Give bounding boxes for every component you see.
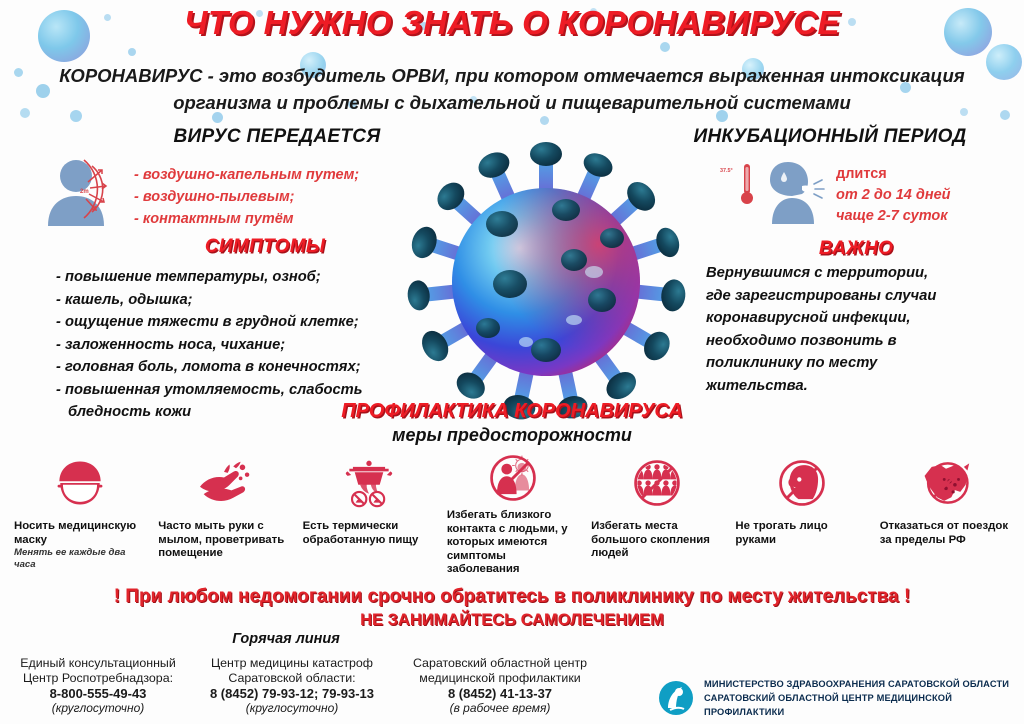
- list-item: - ощущение тяжести в грудной клетке;: [56, 311, 416, 334]
- prevention-label: Носить медицинскую маску: [8, 520, 152, 547]
- intro-paragraph: КОРОНАВИРУС - это возбудитель ОРВИ, при …: [40, 62, 984, 116]
- symptoms-heading: СИМПТОМЫ: [120, 236, 410, 258]
- decorative-dot: [20, 108, 30, 118]
- incubation-line: длится: [836, 164, 1024, 185]
- transmission-list: - воздушно-капельным путем; - воздушно-п…: [134, 164, 394, 230]
- contact-phone[interactable]: 8 (8452) 79-93-12; 79-93-13: [192, 686, 392, 701]
- contact-block: Центр медицины катастроф Саратовской обл…: [192, 656, 392, 716]
- ministry-footer: МИНИСТЕРСТВО ЗДРАВООХРАНЕНИЯ САРАТОВСКОЙ…: [658, 678, 1024, 718]
- prevention-label: Есть термически обработанную пищу: [297, 520, 441, 547]
- prevention-label: Избегать места большого скопления людей: [585, 520, 729, 561]
- person-distance-icon: 2m: [36, 152, 144, 226]
- prevention-subheading: меры предосторожности: [0, 425, 1024, 446]
- wash-hands-icon: [152, 452, 296, 514]
- coronavirus-illustration: [398, 132, 694, 424]
- decorative-dot: [1000, 110, 1010, 120]
- ministry-line1: МИНИСТЕРСТВО ЗДРАВООХРАНЕНИЯ САРАТОВСКОЙ…: [704, 677, 1024, 691]
- ministry-health-logo: [658, 680, 694, 716]
- decorative-dot: [540, 116, 549, 125]
- decorative-dot: [128, 48, 136, 56]
- ministry-line2: САРАТОВСКИЙ ОБЛАСТНОЙ ЦЕНТР МЕДИЦИНСКОЙ …: [704, 691, 1024, 719]
- prevention-item: Избегать места большого скопления людей: [585, 452, 729, 577]
- incubation-duration: длится от 2 до 14 дней чаще 2-7 суток: [836, 164, 1024, 227]
- decorative-virus-icon: [986, 44, 1022, 80]
- important-line: Вернувшимся с территории,: [706, 262, 1010, 285]
- contact-name-line: Саратовский областной центр: [392, 656, 608, 671]
- contact-block: Саратовский областной центр медицинской …: [392, 656, 608, 716]
- contact-name-line: Центр медицины катастроф: [192, 656, 392, 671]
- important-line: коронавирусной инфекции,: [706, 307, 1010, 330]
- contact-hours: (круглосуточно): [192, 701, 392, 716]
- contact-name-line: Единый консультационный: [0, 656, 196, 671]
- list-item: - контактным путём: [134, 208, 394, 230]
- list-item: - кашель, одышка;: [56, 289, 416, 312]
- contact-phone[interactable]: 8 (8452) 41-13-37: [392, 686, 608, 701]
- warning-banner-line2: НЕ ЗАНИМАЙТЕСЬ САМОЛЕЧЕНИЕМ: [0, 611, 1024, 630]
- no-crowds-icon: [585, 452, 729, 514]
- page-title: ЧТО НУЖНО ЗНАТЬ О КОРОНАВИРУСЕ: [0, 4, 1024, 42]
- important-line: необходимо позвонить в: [706, 330, 1010, 353]
- distance-label: 2m: [80, 189, 89, 195]
- incubation-heading: ИНКУБАЦИОННЫЙ ПЕРИОД: [660, 126, 1000, 148]
- prevention-item: Есть термически обработанную пищу: [297, 452, 441, 577]
- important-line: жительства.: [706, 375, 1010, 398]
- prevention-item: Избегать близкого контакта с людьми, у к…: [441, 452, 585, 577]
- important-line: поликлинику по месту: [706, 352, 1010, 375]
- list-item: - заложенность носа, чихание;: [56, 334, 416, 357]
- face-mask-icon: [8, 452, 152, 514]
- dont-touch-face-icon: [729, 452, 873, 514]
- incubation-line: чаще 2-7 суток: [836, 206, 1024, 227]
- important-heading: ВАЖНО: [706, 238, 1006, 260]
- prevention-heading: ПРОФИЛАКТИКА КОРОНАВИРУСА: [0, 400, 1024, 423]
- thermometer-value: 37.5°: [720, 168, 733, 174]
- prevention-item: Часто мыть руки с мылом, проветривать по…: [152, 452, 296, 577]
- prevention-label: Часто мыть руки с мылом, проветривать по…: [152, 520, 296, 561]
- hotline-heading: Горячая линия: [196, 631, 376, 647]
- poster-root: ЧТО НУЖНО ЗНАТЬ О КОРОНАВИРУСЕ КОРОНАВИР…: [0, 0, 1024, 724]
- incubation-line: от 2 до 14 дней: [836, 185, 1024, 206]
- list-item: - головная боль, ломота в конечностях;: [56, 356, 416, 379]
- contact-name-line: Саратовской области:: [192, 671, 392, 686]
- prevention-items: Носить медицинскую маску Менять ее кажды…: [8, 452, 1018, 577]
- prevention-item: Не трогать лицо руками: [729, 452, 873, 577]
- contact-block: Единый консультационный Центр Роспотребн…: [0, 656, 196, 716]
- contact-name-line: Центр Роспотребнадзора:: [0, 671, 196, 686]
- contact-name-line: медицинской профилактики: [392, 671, 608, 686]
- list-item: - воздушно-капельным путем;: [134, 164, 394, 186]
- contact-phone[interactable]: 8-800-555-49-43: [0, 686, 196, 701]
- prevention-label: Избегать близкого контакта с людьми, у к…: [441, 509, 585, 577]
- prevention-label: Не трогать лицо руками: [729, 520, 873, 547]
- transmission-heading: ВИРУС ПЕРЕДАЕТСЯ: [152, 126, 402, 148]
- prevention-item: Отказаться от поездок за пределы РФ: [874, 452, 1018, 577]
- decorative-dot: [660, 42, 670, 52]
- cooked-food-pot-icon: [297, 452, 441, 514]
- list-item: - воздушно-пылевым;: [134, 186, 394, 208]
- prevention-label: Отказаться от поездок за пределы РФ: [874, 520, 1018, 547]
- sick-person-thermometer-icon: 37.5°: [714, 158, 826, 224]
- contact-hours: (круглосуточно): [0, 701, 196, 716]
- no-travel-map-icon: [874, 452, 1018, 514]
- decorative-dot: [14, 68, 23, 77]
- prevention-note: Менять ее каждые два часа: [8, 547, 152, 570]
- list-item: - повышенная утомляемость, слабость: [56, 379, 416, 402]
- contact-hours: (в рабочее время): [392, 701, 608, 716]
- prevention-item: Носить медицинскую маску Менять ее кажды…: [8, 452, 152, 577]
- important-text: Вернувшимся с территории, где зарегистри…: [706, 262, 1010, 397]
- ministry-text: МИНИСТЕРСТВО ЗДРАВООХРАНЕНИЯ САРАТОВСКОЙ…: [704, 677, 1024, 719]
- list-item: - повышение температуры, озноб;: [56, 266, 416, 289]
- no-close-contact-icon: [441, 452, 585, 503]
- important-line: где зарегистрированы случаи: [706, 285, 1010, 308]
- warning-banner-line1: ! При любом недомогании срочно обратитес…: [0, 586, 1024, 608]
